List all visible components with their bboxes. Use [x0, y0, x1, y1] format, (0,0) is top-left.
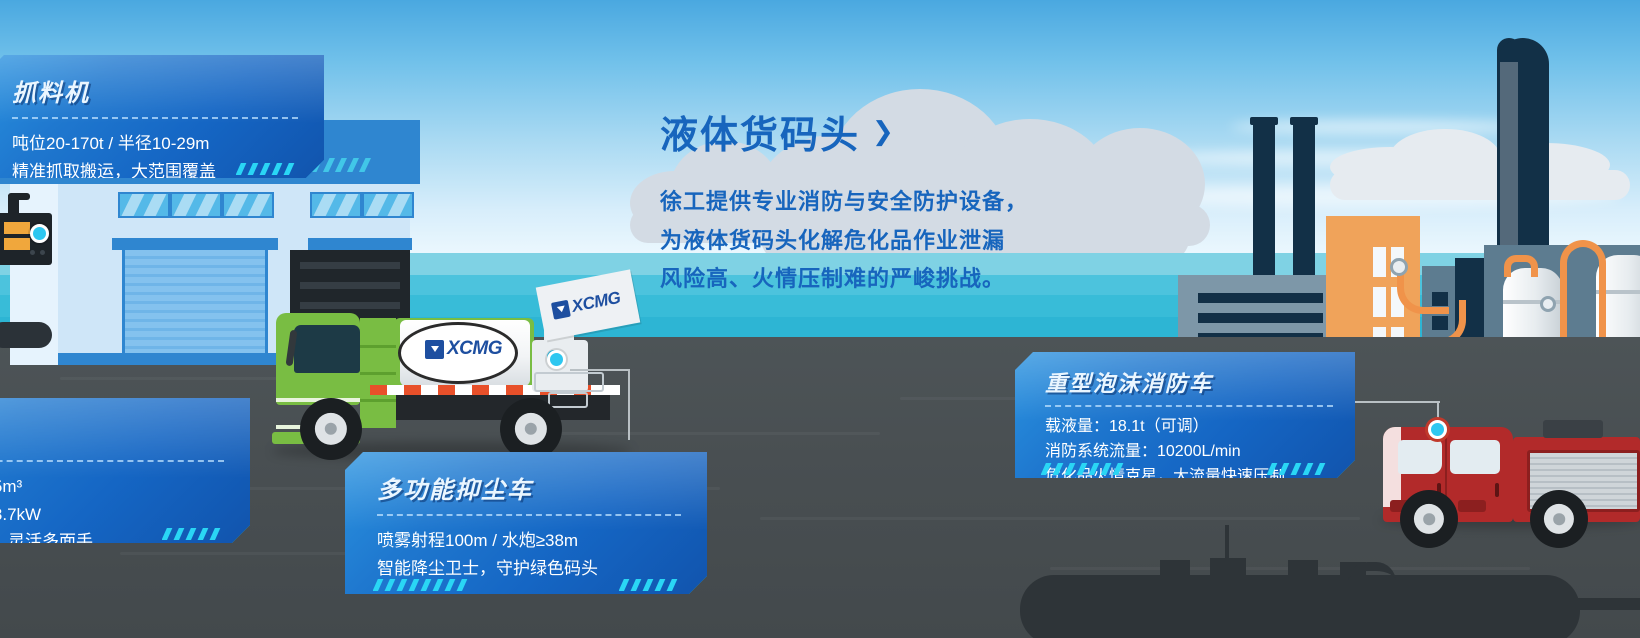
xcmg-mark-icon	[551, 299, 571, 319]
subtitle-line-1: 徐工提供专业消防与安全防护设备，	[660, 183, 1028, 222]
fire-truck-wheel	[1400, 490, 1458, 548]
warehouse-window	[170, 192, 222, 218]
card-spec-line: 喷雾射程100m / 水炮≥38m	[377, 527, 681, 555]
warehouse-window	[310, 192, 362, 218]
tank-nozzle	[1160, 560, 1190, 578]
info-card-foam-fire-truck[interactable]: 重型泡沫消防车 载液量：18.1t（可调） 消防系统流量：10200L/min …	[1015, 352, 1355, 478]
interior-shelf	[300, 302, 400, 309]
card-spec-line: 载液量：18.1t（可调）	[1045, 415, 1333, 440]
grapple-panel	[4, 222, 30, 234]
xcmg-logo-tank: XCMG	[425, 338, 502, 360]
page-title-text: 液体货码头	[660, 104, 860, 159]
card-spec-line: 吨位20-170t / 半径10-29m	[12, 130, 298, 158]
card-title: 装载机	[0, 416, 224, 451]
page-title[interactable]: 液体货码头 ❯	[660, 104, 1028, 159]
xcmg-wordmark: XCMG	[570, 288, 622, 317]
card-title: 重型泡沫消防车	[1045, 366, 1333, 398]
card-spec-line: 斗容0.5-0.65m³	[0, 473, 224, 501]
headline-block: 液体货码头 ❯ 徐工提供专业消防与安全防护设备， 为液体货码头化解危化品作业泄漏…	[660, 104, 1028, 299]
card-divider	[0, 460, 224, 462]
hotspot-dust-truck[interactable]	[547, 350, 566, 369]
tank-nozzle	[1210, 558, 1246, 578]
fire-truck-windshield	[1398, 440, 1442, 474]
tank-pipe-run	[1392, 598, 1640, 610]
grapple-exhaust	[8, 195, 19, 215]
chevron-right-icon[interactable]: ❯	[872, 116, 896, 147]
tank-nozzle	[1288, 560, 1318, 578]
xcmg-wordmark: XCMG	[447, 338, 502, 360]
card-divider	[12, 117, 298, 119]
subtitle-line-3: 风险高、火情压制难的严峻挑战。	[660, 260, 1028, 299]
card-title: 抓料机	[12, 73, 298, 108]
xcmg-logo-sign: XCMG	[551, 288, 623, 321]
window	[1373, 287, 1386, 317]
card-title: 多功能抑尘车	[377, 470, 681, 505]
door-lintel	[112, 238, 278, 250]
card-divider	[1045, 405, 1333, 407]
fire-truck-side-window	[1450, 440, 1500, 474]
sprayer-frame	[548, 392, 588, 408]
corner-stripes-icon	[1041, 463, 1137, 475]
door-handle	[1495, 483, 1499, 497]
truck-wheel	[500, 398, 562, 460]
subtitle-line-2: 为液体货码头化解危化品作业泄漏	[660, 222, 1028, 261]
sprayer-frame	[534, 372, 604, 392]
info-card-grapple[interactable]: 抓料机 吨位20-170t / 半径10-29m 精准抓取搬运，大范围覆盖	[0, 55, 324, 178]
card-spec-line: 消防系统流量：10200L/min	[1045, 440, 1333, 465]
warehouse-window	[118, 192, 170, 218]
pipe-flange	[1390, 258, 1408, 276]
corner-stripes-icon	[1267, 463, 1333, 475]
chimney-cap	[1290, 117, 1318, 125]
corner-stripes-icon	[619, 579, 685, 591]
hotspot-leader-line	[628, 370, 630, 440]
corner-stripes-icon	[373, 579, 493, 591]
warehouse-window	[222, 192, 274, 218]
roller-door	[122, 250, 268, 355]
tank-pipe	[1348, 562, 1396, 602]
pipe-flange	[1540, 296, 1556, 312]
card-spec-line: 智能降尘卫士，守护绿色码头	[377, 555, 681, 583]
info-card-dust-truck[interactable]: 多功能抑尘车 喷雾射程100m / 水炮≥38m 智能降尘卫士，守护绿色码头	[345, 452, 707, 594]
interior-shelf	[300, 262, 400, 269]
corner-stripes-icon	[236, 163, 302, 175]
headline-subtitle: 徐工提供专业消防与安全防护设备， 为液体货码头化解危化品作业泄漏 风险高、火情压…	[660, 183, 1028, 299]
xcmg-mark-icon	[425, 340, 444, 359]
hotspot-fire-truck[interactable]	[1428, 420, 1447, 439]
orange-pipe	[1504, 255, 1538, 277]
building-bar	[1198, 313, 1323, 323]
interior-shelf	[300, 282, 400, 289]
fire-truck-roof-box	[1543, 420, 1603, 438]
warehouse-window	[362, 192, 414, 218]
card-spec-line: 功率 35.5-53.7kW	[0, 501, 224, 529]
door-lintel	[308, 238, 412, 250]
info-card-loader[interactable]: 装载机 斗容0.5-0.65m³ 功率 35.5-53.7kW 装卸多能手，灵活…	[0, 398, 250, 543]
banner-scene: XCMG XCMG	[0, 0, 1640, 638]
chimney-cap	[1250, 117, 1278, 125]
card-divider	[377, 514, 681, 516]
window	[1373, 247, 1386, 277]
truck-wheel	[300, 398, 362, 460]
cab-step	[1458, 500, 1486, 512]
hotspot-leader-line	[570, 369, 630, 371]
hotspot-grapple-machine[interactable]	[30, 224, 49, 243]
grapple-track	[0, 322, 52, 348]
tank-vent	[1225, 525, 1229, 561]
fire-truck-wheel	[1530, 490, 1588, 548]
grapple-panel	[4, 238, 30, 250]
corner-stripes-icon	[162, 528, 228, 540]
building-bar	[1198, 293, 1323, 303]
truck-windshield	[294, 325, 360, 373]
